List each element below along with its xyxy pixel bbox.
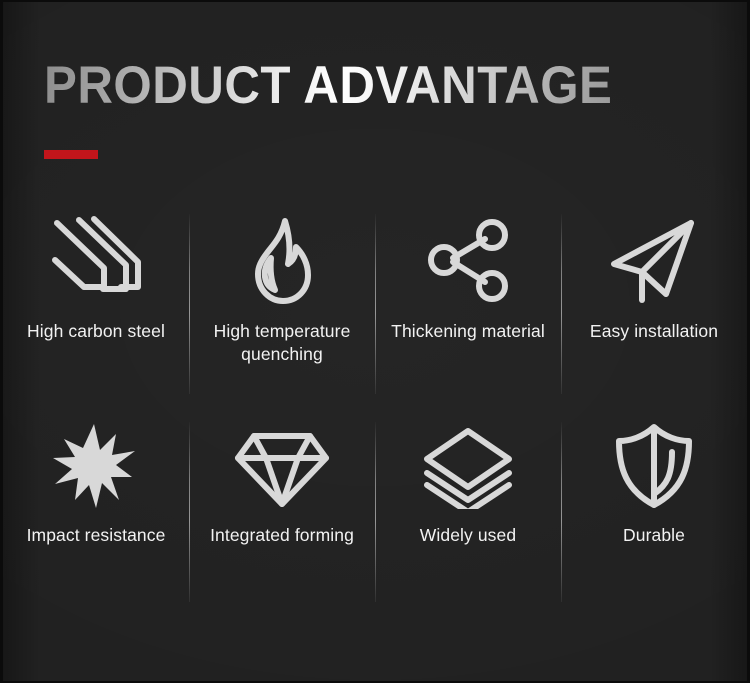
feature-label: Integrated forming — [210, 524, 354, 547]
feature-row: Impact resistance Integrated forming — [3, 408, 747, 608]
product-advantage-banner: PRODUCT ADVANTAGE High carbon steel — [0, 0, 750, 683]
feature-cell-durable[interactable]: Durable — [561, 408, 747, 608]
feature-cell-high-carbon-steel[interactable]: High carbon steel — [3, 200, 189, 408]
feature-label: High carbon steel — [27, 320, 165, 343]
feature-cell-impact-resistance[interactable]: Impact resistance — [3, 408, 189, 608]
feature-cell-thickening-material[interactable]: Thickening material — [375, 200, 561, 408]
feature-label: Impact resistance — [27, 524, 166, 547]
red-accent-bar — [44, 150, 98, 159]
feature-label: Durable — [623, 524, 685, 547]
diamond-icon — [233, 408, 331, 524]
starburst-icon — [50, 408, 142, 524]
paper-plane-icon — [604, 200, 704, 320]
feature-label: Thickening material — [391, 320, 545, 343]
feature-grid: High carbon steel High temperature quenc… — [3, 200, 747, 608]
flame-icon — [241, 200, 323, 320]
feature-cell-easy-installation[interactable]: Easy installation — [561, 200, 747, 408]
angle-steel-stack-icon — [46, 200, 146, 320]
header: PRODUCT ADVANTAGE — [44, 58, 655, 114]
feature-label: High temperature quenching — [202, 320, 362, 366]
feature-cell-integrated-forming[interactable]: Integrated forming — [189, 408, 375, 608]
feature-label: Easy installation — [590, 320, 718, 343]
share-nodes-icon — [422, 200, 514, 320]
page-title: PRODUCT ADVANTAGE — [44, 58, 612, 114]
feature-cell-widely-used[interactable]: Widely used — [375, 408, 561, 608]
feature-row: High carbon steel High temperature quenc… — [3, 200, 747, 408]
shield-icon — [611, 408, 697, 524]
feature-label: Widely used — [420, 524, 516, 547]
feature-cell-high-temperature-quenching[interactable]: High temperature quenching — [189, 200, 375, 408]
layers-icon — [420, 408, 516, 524]
